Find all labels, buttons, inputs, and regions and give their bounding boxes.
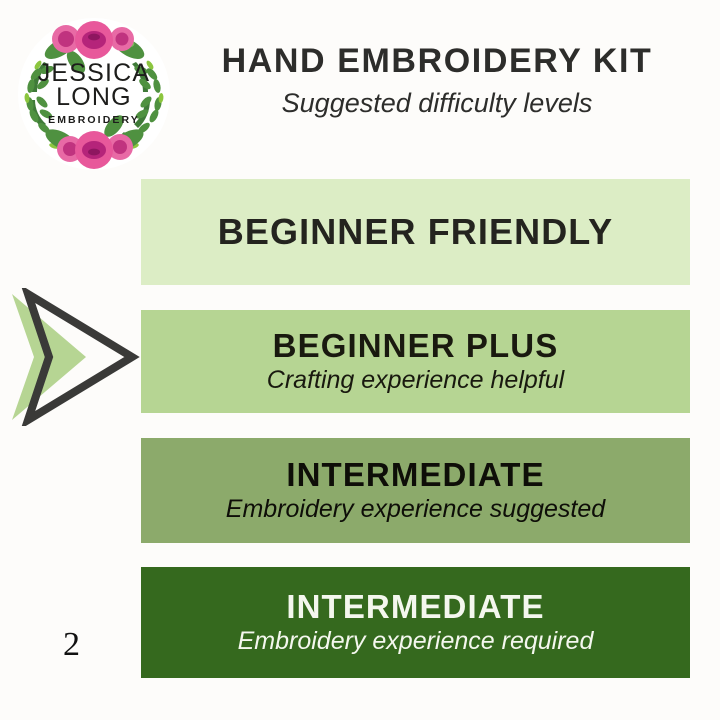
level-bar-intermediate-required[interactable]: INTERMEDIATE Embroidery experience requi… [141,567,690,678]
chevron-right-pointer-icon [8,288,144,426]
floral-wreath-icon [14,14,174,174]
level-title: BEGINNER FRIENDLY [218,212,613,252]
level-title: BEGINNER PLUS [273,328,559,364]
header: HAND EMBROIDERY KIT Suggested difficulty… [182,44,692,118]
level-title: INTERMEDIATE [286,589,544,625]
level-bar-intermediate-suggested[interactable]: INTERMEDIATE Embroidery experience sugge… [141,438,690,543]
level-bar-beginner-plus[interactable]: BEGINNER PLUS Crafting experience helpfu… [141,310,690,413]
pointer-number: 2 [63,628,80,662]
level-title: INTERMEDIATE [286,457,544,493]
brand-logo: JESSICA LONG EMBROIDERY [14,14,174,174]
page-title: HAND EMBROIDERY KIT [182,44,692,80]
level-subtitle: Embroidery experience suggested [226,495,605,524]
page-subtitle: Suggested difficulty levels [182,89,692,119]
level-subtitle: Crafting experience helpful [267,366,564,395]
level-bar-beginner-friendly[interactable]: BEGINNER FRIENDLY [141,179,690,285]
selected-level-pointer: 2 [8,288,144,426]
difficulty-level-infographic: JESSICA LONG EMBROIDERY HAND EMBROIDERY … [0,0,720,720]
level-subtitle: Embroidery experience required [238,627,594,656]
